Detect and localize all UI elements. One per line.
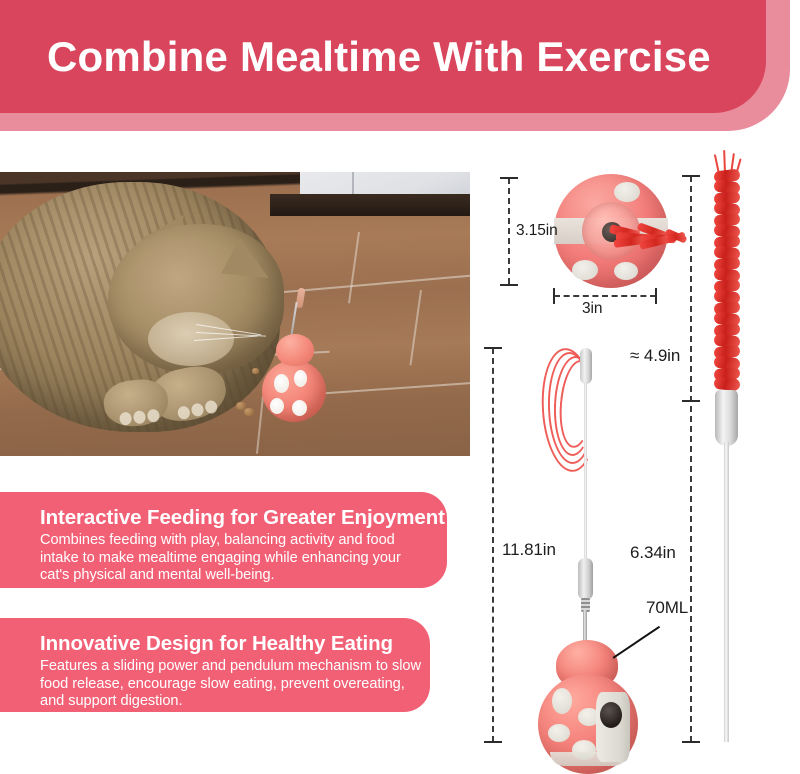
dim-line-ball-width	[554, 295, 656, 297]
feature-card-interactive-feeding: Interactive Feeding for Greater Enjoymen…	[0, 492, 447, 588]
dim-line-total-height	[492, 348, 494, 742]
counter-edge	[270, 194, 470, 216]
product-dimension-diagrams: 3.15in 3in 11.81in ≈	[470, 160, 800, 761]
dim-cap	[500, 284, 518, 286]
wand-extended-ferrule	[715, 390, 738, 446]
dim-cap	[655, 288, 657, 304]
photo-toy-ball	[262, 360, 326, 422]
dim-cap	[484, 741, 502, 743]
dim-label-rod-length: 6.34in	[630, 543, 676, 563]
page-title: Combine Mealtime With Exercise	[47, 36, 747, 78]
ball-spot	[614, 182, 640, 202]
wand-extended-rod	[724, 442, 729, 742]
dim-cap	[682, 400, 700, 402]
dim-cap	[553, 288, 555, 304]
dim-label-ball-width: 3in	[582, 300, 602, 318]
kibble-piece	[244, 408, 254, 416]
lifestyle-photo	[0, 172, 470, 456]
dim-cap	[484, 347, 502, 349]
dim-line-wand-length	[690, 176, 692, 742]
feature-body: Features a sliding power and pendulum me…	[40, 658, 432, 711]
feature-title: Innovative Design for Healthy Eating	[40, 632, 393, 656]
dim-cap	[682, 175, 700, 177]
photo-product-toy	[262, 330, 326, 422]
dim-label-ball-height: 3.15in	[516, 222, 558, 240]
ball-rope-tassel	[610, 220, 688, 254]
wand-rod-upper	[584, 382, 587, 560]
kibble-piece	[252, 368, 259, 374]
wand-tip-ferrule	[580, 348, 592, 384]
wand-rope-tassel	[714, 168, 740, 394]
dim-label-capacity: 70ML	[646, 598, 688, 618]
wand-mid-ferrule	[578, 558, 593, 600]
diagram-wand-extended	[706, 168, 752, 746]
dim-label-rope-length: ≈ 4.9in	[630, 346, 680, 366]
photo-toy-head	[276, 334, 314, 366]
feature-card-innovative-design: Innovative Design for Healthy Eating Fea…	[0, 618, 430, 712]
diagram-product-main-view	[534, 340, 674, 730]
ball-spot	[572, 260, 598, 280]
dim-line-ball-height	[508, 178, 510, 284]
header-banner: Combine Mealtime With Exercise	[0, 0, 800, 132]
product-dispense-opening	[600, 702, 622, 728]
diagram-ball-top-view	[548, 174, 674, 290]
dim-cap	[500, 177, 518, 179]
dim-cap	[682, 741, 700, 743]
dim-label-total-height: 11.81in	[502, 540, 556, 560]
feature-title: Interactive Feeding for Greater Enjoymen…	[40, 506, 445, 530]
ball-spot	[614, 262, 638, 280]
feature-body: Combines feeding with play, balancing ac…	[40, 532, 432, 585]
